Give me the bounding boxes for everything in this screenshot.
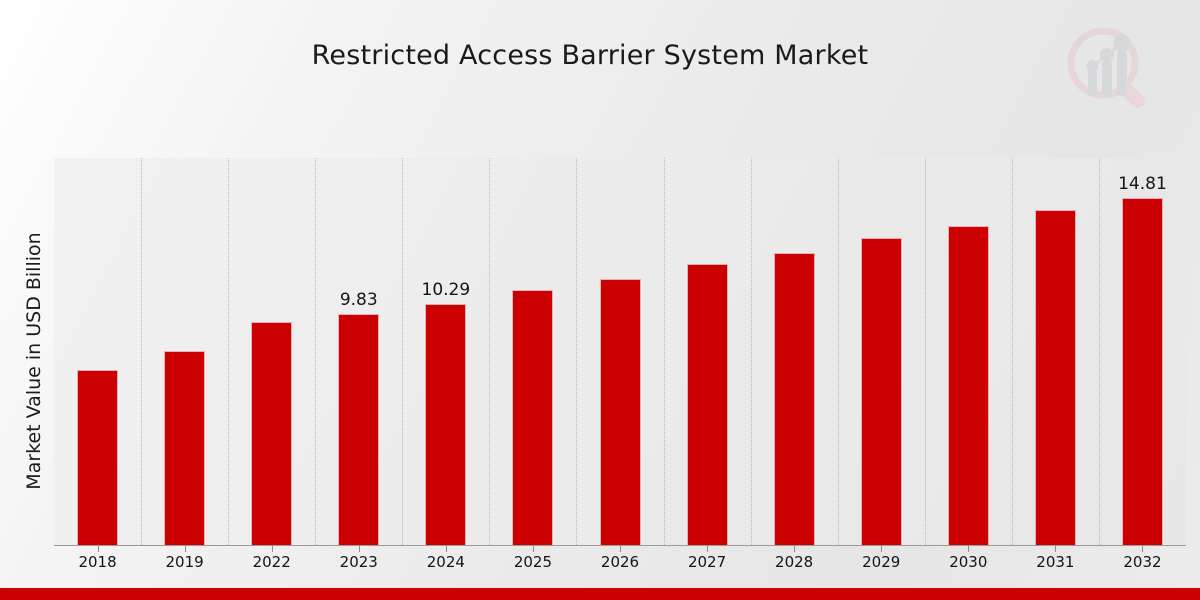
x-tick-mark-2023 <box>359 546 360 552</box>
x-tick-mark-2026 <box>620 546 621 552</box>
x-tick-mark-2029 <box>881 546 882 552</box>
x-tick-label-2029: 2029 <box>836 553 926 571</box>
gridline <box>315 158 316 545</box>
bar-2019 <box>164 351 205 545</box>
bar-value-label-2023: 9.83 <box>314 290 404 310</box>
gridline <box>664 158 665 545</box>
bar-2022 <box>251 322 292 545</box>
x-tick-label-2027: 2027 <box>662 553 752 571</box>
x-tick-mark-2032 <box>1142 546 1143 552</box>
x-tick-mark-2018 <box>98 546 99 552</box>
bar-value-label-2032: 14.81 <box>1097 174 1187 194</box>
bar-2023 <box>338 314 379 545</box>
x-tick-mark-2030 <box>968 546 969 552</box>
x-tick-label-2030: 2030 <box>923 553 1013 571</box>
gridline <box>489 158 490 545</box>
y-axis-label: Market Value in USD Billion <box>23 161 45 561</box>
bar-2032 <box>1122 198 1163 545</box>
bar-2029 <box>861 238 902 545</box>
bar-2024 <box>425 304 466 545</box>
x-tick-label-2025: 2025 <box>488 553 578 571</box>
gridline <box>141 158 142 545</box>
x-tick-mark-2028 <box>794 546 795 552</box>
x-tick-label-2026: 2026 <box>575 553 665 571</box>
bar-2025 <box>512 290 553 545</box>
x-tick-mark-2024 <box>446 546 447 552</box>
footer-accent-band <box>0 588 1200 600</box>
x-tick-mark-2027 <box>707 546 708 552</box>
x-tick-label-2019: 2019 <box>140 553 230 571</box>
bar-2031 <box>1035 210 1076 545</box>
gridline <box>228 158 229 545</box>
gridline <box>1012 158 1013 545</box>
gridline <box>838 158 839 545</box>
gridline <box>402 158 403 545</box>
x-tick-mark-2025 <box>533 546 534 552</box>
x-tick-label-2031: 2031 <box>1010 553 1100 571</box>
bar-2026 <box>600 279 641 545</box>
x-tick-mark-2031 <box>1055 546 1056 552</box>
gridline <box>1099 158 1100 545</box>
x-tick-mark-2022 <box>272 546 273 552</box>
x-tick-label-2028: 2028 <box>749 553 839 571</box>
gridline <box>751 158 752 545</box>
bar-2028 <box>774 253 815 545</box>
x-tick-label-2023: 2023 <box>314 553 404 571</box>
bar-2030 <box>948 226 989 545</box>
x-tick-label-2032: 2032 <box>1097 553 1187 571</box>
x-tick-mark-2019 <box>185 546 186 552</box>
gridline <box>925 158 926 545</box>
bar-2027 <box>687 264 728 545</box>
bar-value-label-2024: 10.29 <box>401 280 491 300</box>
bar-2018 <box>77 370 118 545</box>
gridline <box>576 158 577 545</box>
chart-figure: Restricted Access Barrier System Market … <box>0 0 1200 600</box>
x-tick-label-2022: 2022 <box>227 553 317 571</box>
x-tick-label-2018: 2018 <box>53 553 143 571</box>
page-title: Restricted Access Barrier System Market <box>0 40 1180 71</box>
x-tick-label-2024: 2024 <box>401 553 491 571</box>
magnifier-bar-chart-logo-icon <box>1058 18 1158 118</box>
